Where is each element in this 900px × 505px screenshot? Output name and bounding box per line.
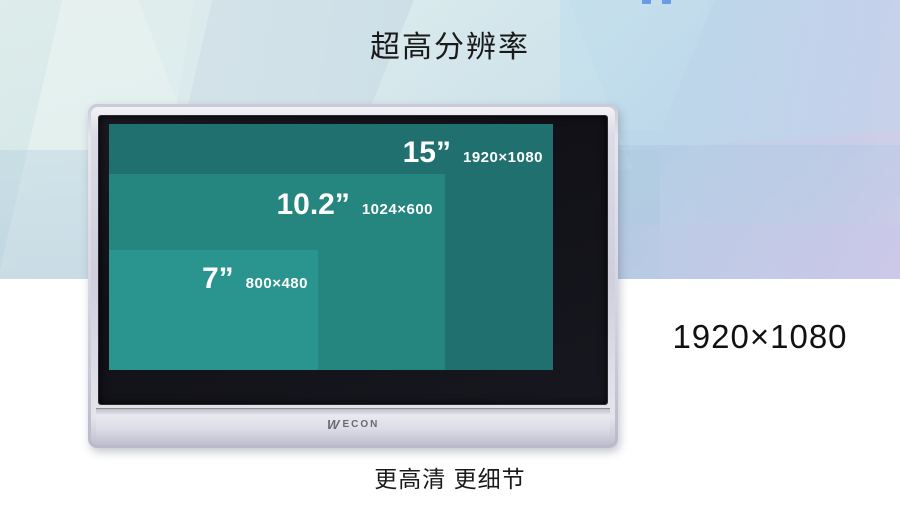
decorative-top-marks [642,0,682,6]
top-mark-1 [642,0,651,4]
resolution-label-7in: 7” 800×480 [202,264,308,294]
monitor-chin: W econ [96,408,610,441]
hero-resolution-text: 1920×1080 [620,318,900,356]
resolution-block-7in: 7” 800×480 [109,250,318,370]
screen-size-value-15in: 15” [403,138,451,168]
brand-mark-letter: W [326,417,341,432]
screen-resolution-value-15in: 1920×1080 [463,149,543,166]
page-caption: 更高清 更细节 [0,460,900,494]
top-mark-2 [662,0,671,4]
resolution-label-15in: 15” 1920×1080 [403,138,543,168]
resolution-label-10in: 10.2” 1024×600 [276,190,433,220]
screen-size-value-7in: 7” [202,264,234,294]
screen-size-value-10in: 10.2” [276,190,349,220]
resolution-comparison-stack: 15” 1920×1080 10.2” 1024×600 7” 800×480 [99,116,607,404]
monitor-bezel-outer: 15” 1920×1080 10.2” 1024×600 7” 800×480 [91,107,615,445]
screen-resolution-value-10in: 1024×600 [362,201,433,218]
background-facet-8 [600,225,900,279]
monitor-screen: 15” 1920×1080 10.2” 1024×600 7” 800×480 [98,115,608,405]
monitor-device: 15” 1920×1080 10.2” 1024×600 7” 800×480 [88,104,618,448]
screen-resolution-value-7in: 800×480 [246,275,308,292]
brand-name-text: econ [342,419,379,430]
brand-logo: W econ [327,417,380,432]
page-title: 超高分辨率 [0,22,900,66]
